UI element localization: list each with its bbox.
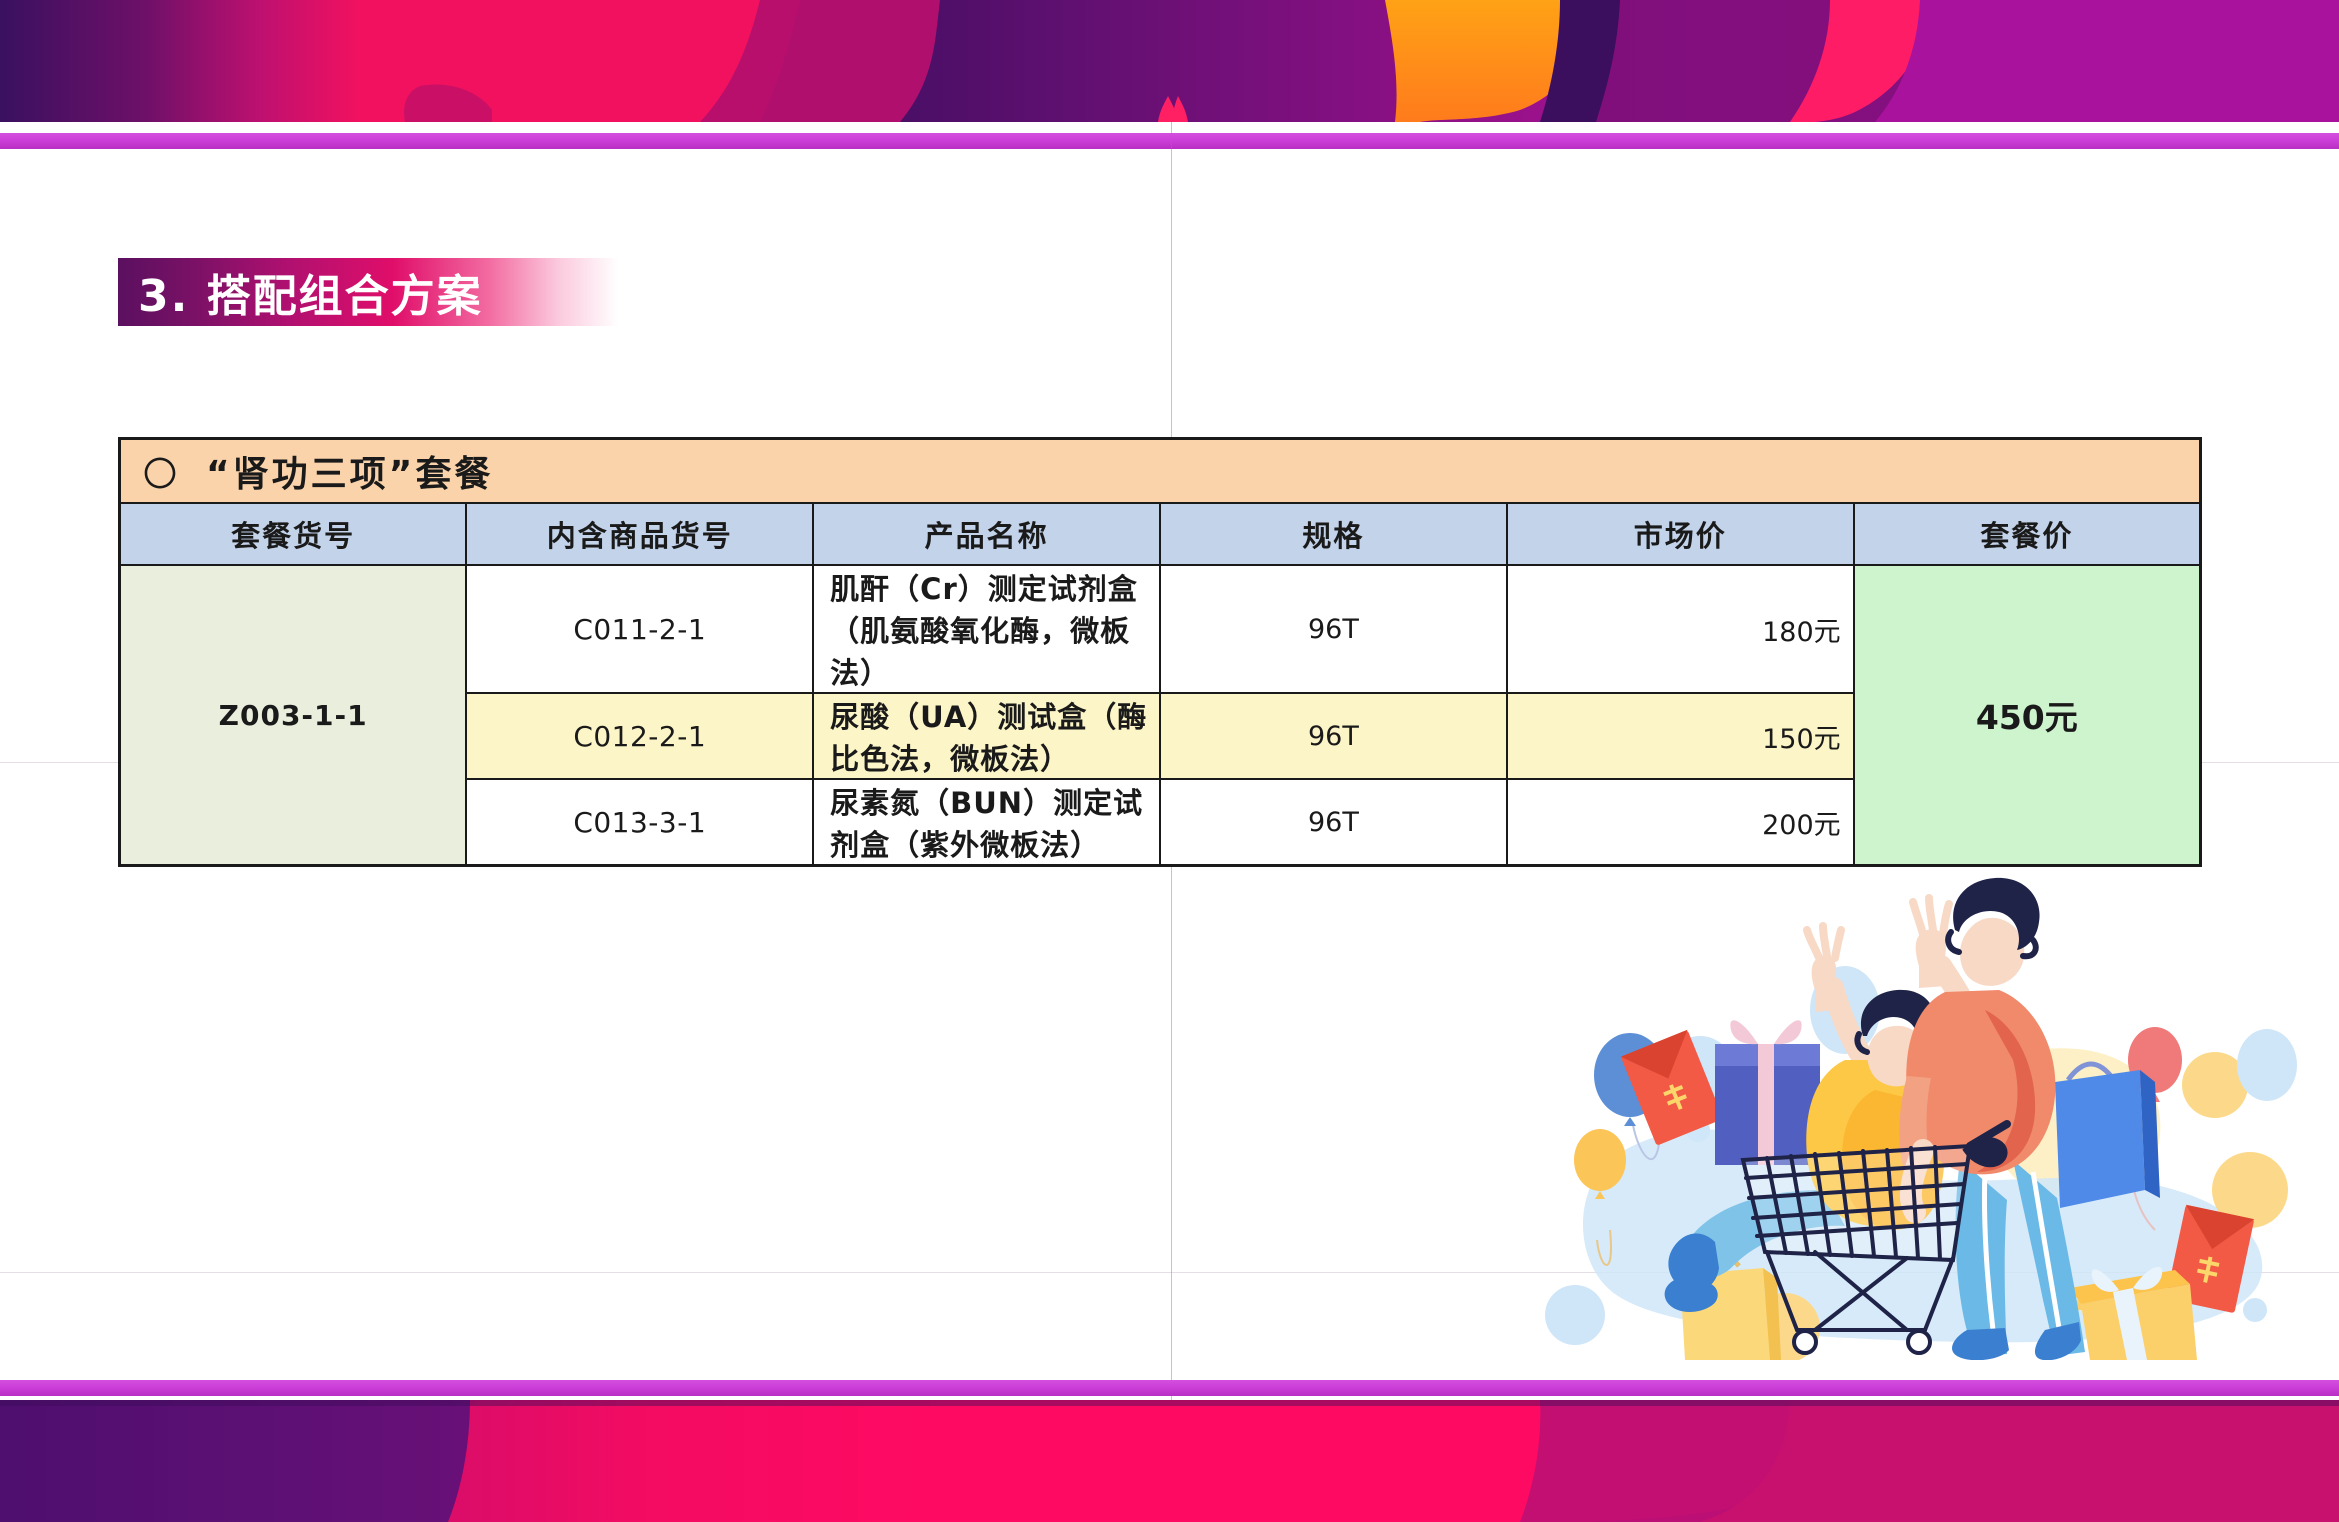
cell-market-price: 150元 bbox=[1507, 693, 1854, 779]
cell-spec: 96T bbox=[1160, 565, 1507, 693]
column-header-item-code: 内含商品货号 bbox=[466, 503, 813, 565]
decorative-top-banner bbox=[0, 0, 2339, 122]
column-header-bundle-price: 套餐价 bbox=[1854, 503, 2201, 565]
cell-package-code: Z003-1-1 bbox=[120, 565, 467, 866]
bottom-accent-rule bbox=[0, 1380, 2339, 1396]
top-banner-graphic bbox=[0, 0, 2339, 122]
table-row: Z003-1-1 C011-2-1 肌酐（Cr）测定试剂盒 （肌氨酸氧化酶，微板… bbox=[120, 565, 2201, 693]
cell-market-price: 180元 bbox=[1507, 565, 1854, 693]
top-accent-rule bbox=[0, 133, 2339, 149]
shopping-couple-illustration bbox=[1515, 860, 2325, 1360]
table-caption-cell: 〇“肾功三项”套餐 bbox=[120, 439, 2201, 504]
table-caption-text: “肾功三项”套餐 bbox=[206, 454, 493, 495]
cell-spec: 96T bbox=[1160, 779, 1507, 866]
section-title-bar: 3. 搭配组合方案 bbox=[118, 258, 618, 326]
table-header-row: 套餐货号 内含商品货号 产品名称 规格 市场价 套餐价 bbox=[120, 503, 2201, 565]
decorative-bottom-banner bbox=[0, 1400, 2339, 1522]
column-header-market-price: 市场价 bbox=[1507, 503, 1854, 565]
page-title: 3. 搭配组合方案 bbox=[138, 260, 483, 324]
shopping-illustration-graphic bbox=[1515, 860, 2325, 1360]
circle-bullet-icon: 〇 bbox=[143, 455, 180, 495]
column-header-product-name: 产品名称 bbox=[813, 503, 1160, 565]
package-combination-table: 〇“肾功三项”套餐 套餐货号 内含商品货号 产品名称 规格 市场价 套餐价 Z0… bbox=[118, 437, 2202, 867]
cell-market-price: 200元 bbox=[1507, 779, 1854, 866]
cell-bundle-price: 450元 bbox=[1854, 565, 2201, 866]
cell-product-name: 肌酐（Cr）测定试剂盒 （肌氨酸氧化酶，微板法） bbox=[813, 565, 1160, 693]
table-caption-row: 〇“肾功三项”套餐 bbox=[120, 439, 2201, 504]
column-header-spec: 规格 bbox=[1160, 503, 1507, 565]
bottom-banner-graphic bbox=[0, 1400, 2339, 1522]
cell-product-name: 尿酸（UA）测试盒（酶比色法，微板法） bbox=[813, 693, 1160, 779]
cell-item-code: C011-2-1 bbox=[466, 565, 813, 693]
cell-spec: 96T bbox=[1160, 693, 1507, 779]
column-header-package-code: 套餐货号 bbox=[120, 503, 467, 565]
cell-item-code: C012-2-1 bbox=[466, 693, 813, 779]
cell-product-name: 尿素氮（BUN）测定试剂盒（紫外微板法） bbox=[813, 779, 1160, 866]
cell-item-code: C013-3-1 bbox=[466, 779, 813, 866]
